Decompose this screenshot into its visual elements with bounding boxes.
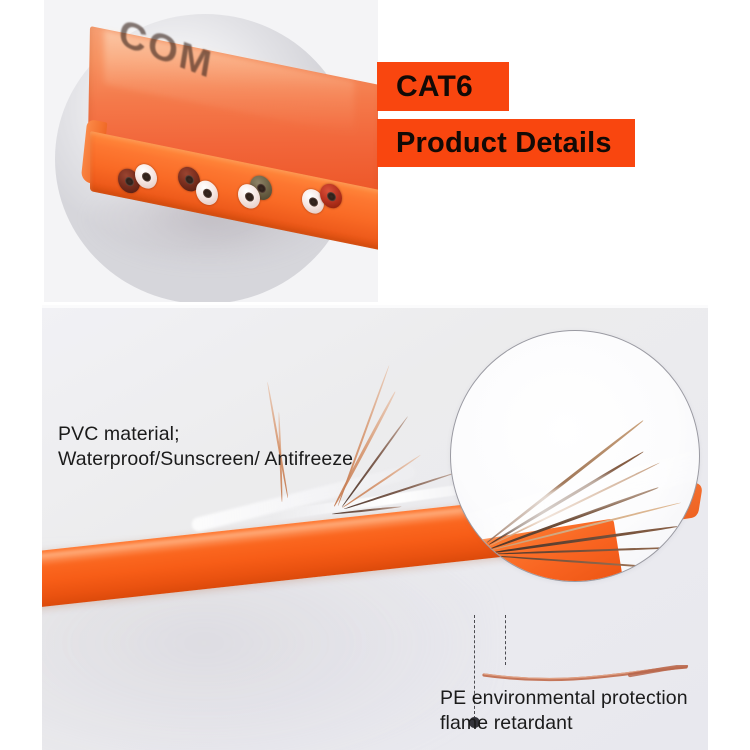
pe-sample-wire-graphic [480, 665, 690, 683]
annotation-pvc-text: PVC material; Waterproof/Sunscreen/ Anti… [58, 422, 398, 472]
conductor-core [125, 176, 134, 187]
conductor-pair-4 [302, 178, 348, 219]
conductor-core [185, 174, 194, 185]
badge-product-details: Product Details [377, 119, 635, 167]
conductor-pair-1 [118, 157, 164, 198]
pe-sample-wire [480, 665, 690, 683]
panel-top-edge [42, 305, 708, 308]
conductor-core [203, 187, 212, 198]
annotation-pe-text: PE environmental protection flame retard… [440, 686, 710, 736]
conductor-2b [196, 179, 218, 207]
conductor-pair-3 [238, 171, 284, 212]
conductor-core [245, 191, 254, 202]
conductor-core [327, 191, 336, 202]
magnifier-circle [450, 330, 700, 582]
conductor-core [142, 171, 151, 182]
leader-line-strand-secondary [505, 615, 506, 665]
bottom-detail-photo-panel [42, 305, 708, 750]
conductor-pair-2 [178, 165, 224, 206]
badge-cat6: CAT6 [377, 62, 509, 111]
conductor-core [309, 196, 318, 207]
top-product-photo-panel: COM [44, 0, 378, 302]
product-detail-image: COM CAT6 Product [0, 0, 750, 750]
